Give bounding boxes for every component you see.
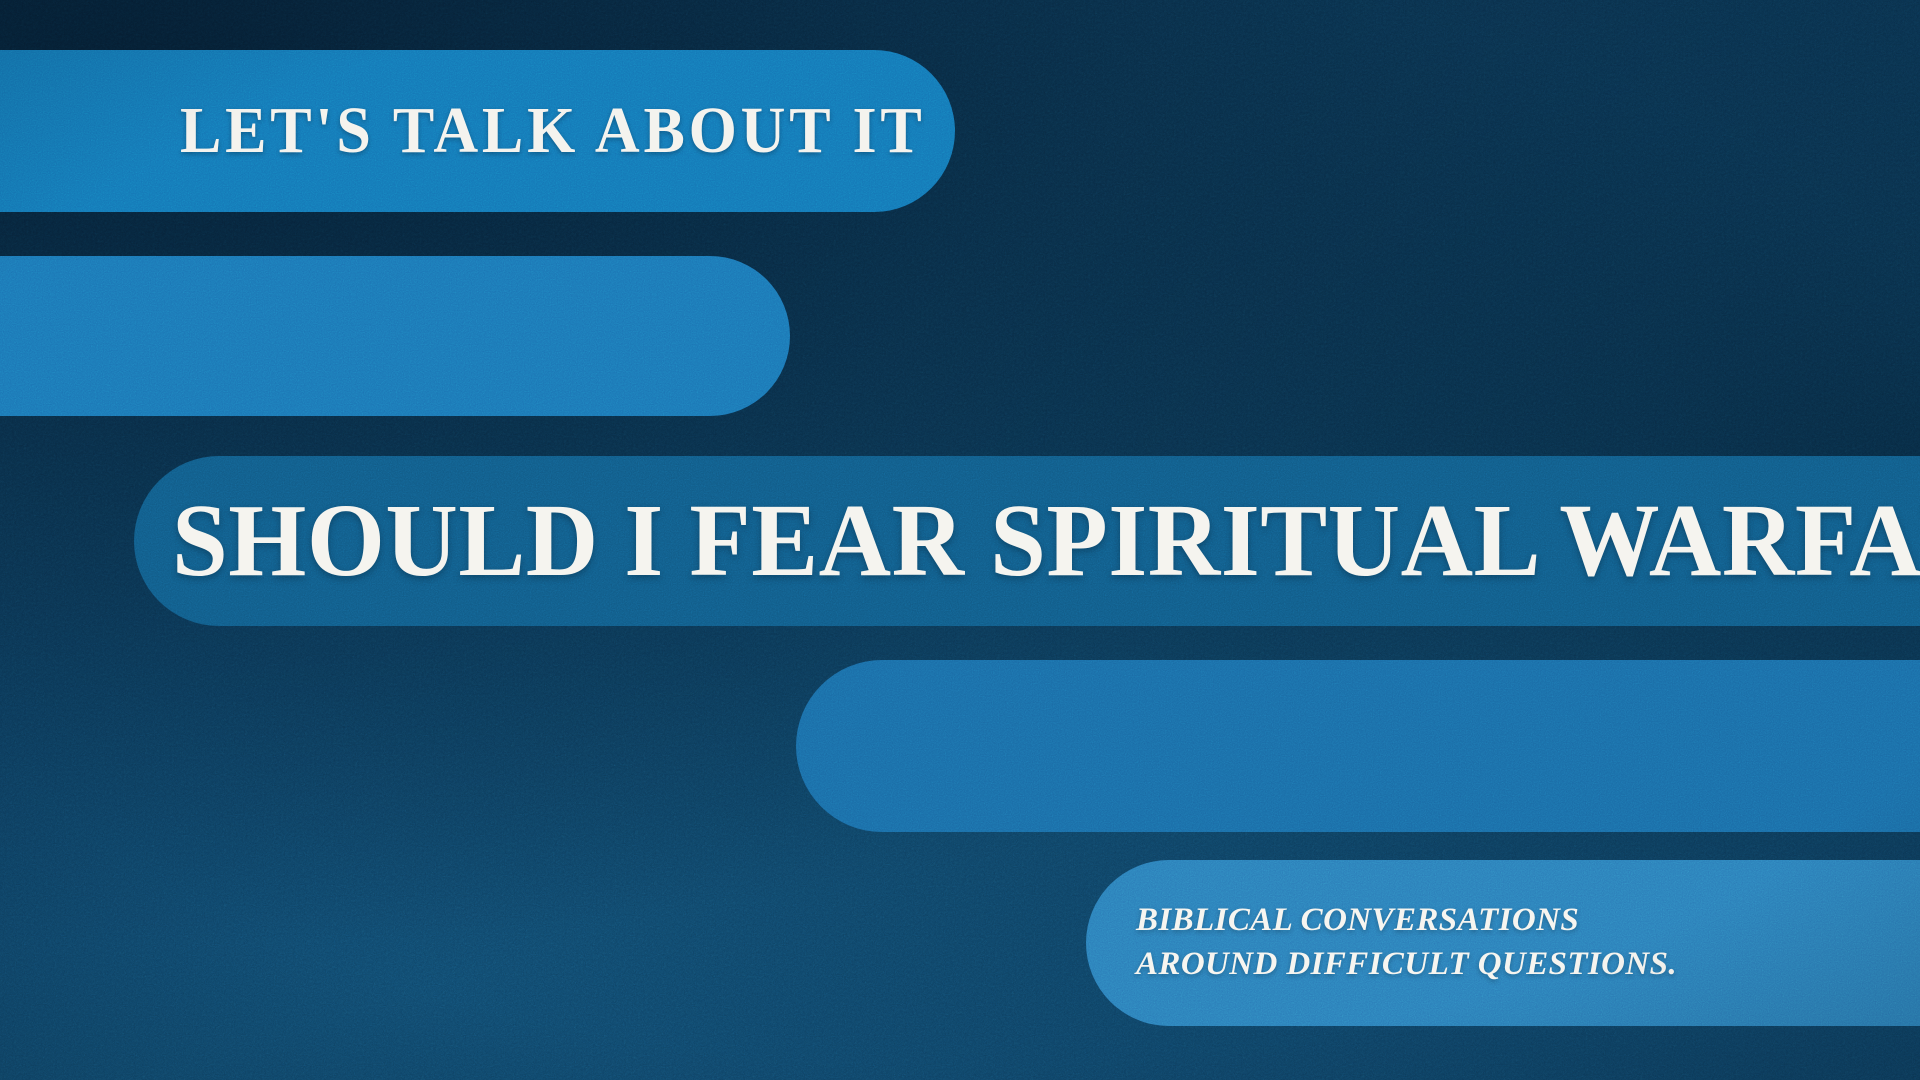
subtitle-line-2: AROUND DIFFICULT QUESTIONS. (1136, 943, 1677, 987)
subtitle-bar: BIBLICAL CONVERSATIONS AROUND DIFFICULT … (1086, 860, 1920, 1026)
headline-bar: SHOULD I FEAR SPIRITUAL WARFARE? (134, 456, 1920, 626)
kicker-label: LET'S TALK ABOUT IT (180, 98, 926, 164)
decorative-bar-lower-grain (796, 660, 1920, 832)
decorative-bar-upper-grain (0, 256, 790, 416)
decorative-bar-lower (796, 660, 1920, 832)
subtitle-line-1: BIBLICAL CONVERSATIONS (1136, 902, 1579, 938)
page-title: SHOULD I FEAR SPIRITUAL WARFARE? (172, 489, 1920, 593)
subtitle-block: BIBLICAL CONVERSATIONS AROUND DIFFICULT … (1136, 899, 1677, 987)
kicker-bar: LET'S TALK ABOUT IT (0, 50, 955, 212)
decorative-bar-upper (0, 256, 790, 416)
title-slide: LET'S TALK ABOUT IT SHOULD I FEAR SPIRIT… (0, 0, 1920, 1080)
